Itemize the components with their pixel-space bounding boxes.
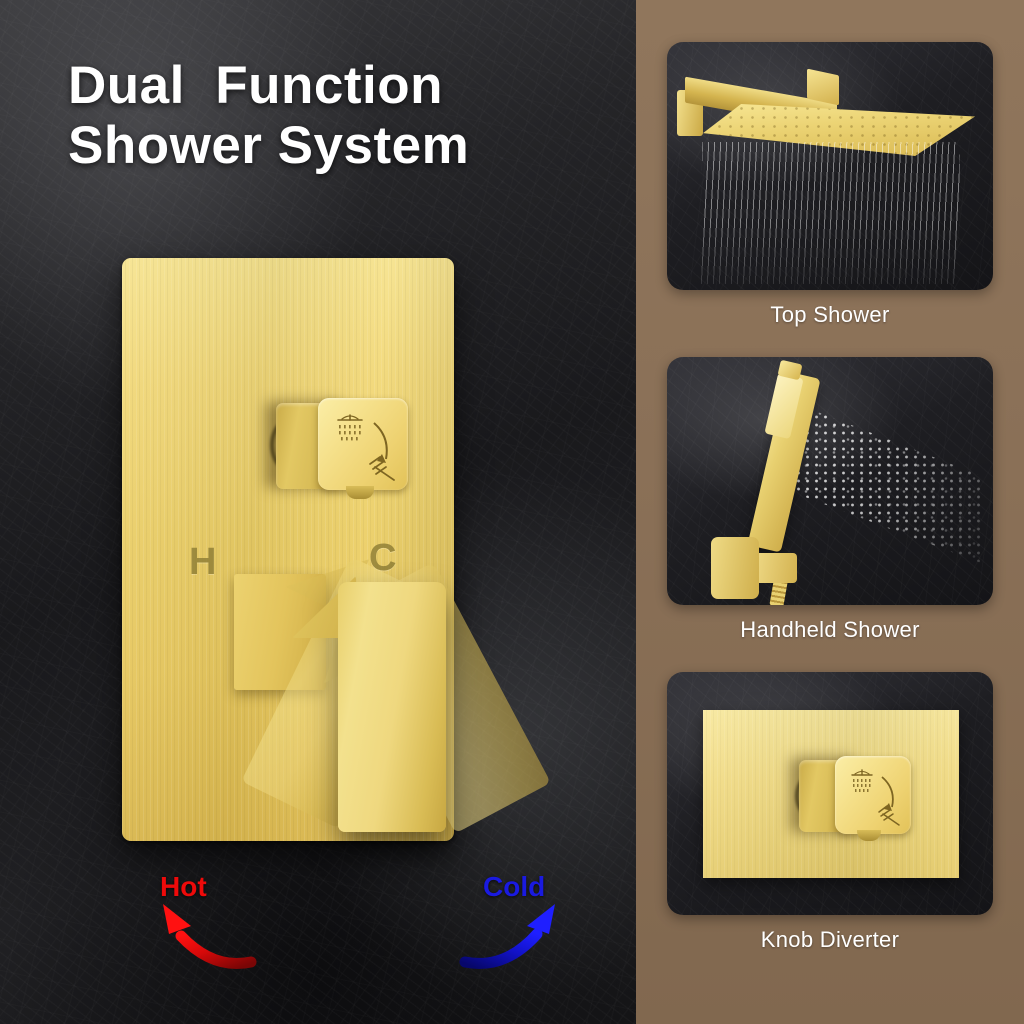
knob-stem xyxy=(857,830,881,841)
hero-panel: Dual Function Shower System H C xyxy=(0,0,636,1024)
cold-callout-label: Cold xyxy=(483,872,545,902)
feature-rail: Top Shower Handheld Shower xyxy=(636,0,1024,1024)
curved-arrow-up-right-icon xyxy=(455,900,565,978)
title-line-2: Shower System xyxy=(68,116,469,176)
product-infographic: Dual Function Shower System H C xyxy=(0,0,1024,1024)
knob-stem xyxy=(346,486,374,499)
caption-top-shower: Top Shower xyxy=(667,302,993,328)
water-stream-icon xyxy=(700,142,960,284)
card-top-shower[interactable] xyxy=(667,42,993,290)
lever-facet-lines xyxy=(338,582,446,832)
diverter-knob-icon[interactable] xyxy=(787,746,917,846)
caption-handheld-shower: Handheld Shower xyxy=(667,617,993,643)
hot-callout-label: Hot xyxy=(160,872,207,902)
wall-bracket-icon xyxy=(711,537,759,599)
title-line-1: Dual Function xyxy=(68,56,469,116)
mixer-lever-handle[interactable] xyxy=(196,560,596,910)
curved-arrow-up-left-icon xyxy=(155,900,265,978)
diverter-knob[interactable] xyxy=(258,386,408,504)
card-handheld-shower[interactable] xyxy=(667,357,993,605)
lever-center-position[interactable] xyxy=(338,582,446,832)
card-knob-diverter[interactable] xyxy=(667,672,993,915)
cold-callout: Cold xyxy=(483,872,545,902)
page-title: Dual Function Shower System xyxy=(68,56,469,176)
knob-face xyxy=(318,398,408,490)
caption-knob-diverter: Knob Diverter xyxy=(667,927,993,953)
knob-face xyxy=(835,756,911,834)
hot-callout: Hot xyxy=(160,872,207,902)
